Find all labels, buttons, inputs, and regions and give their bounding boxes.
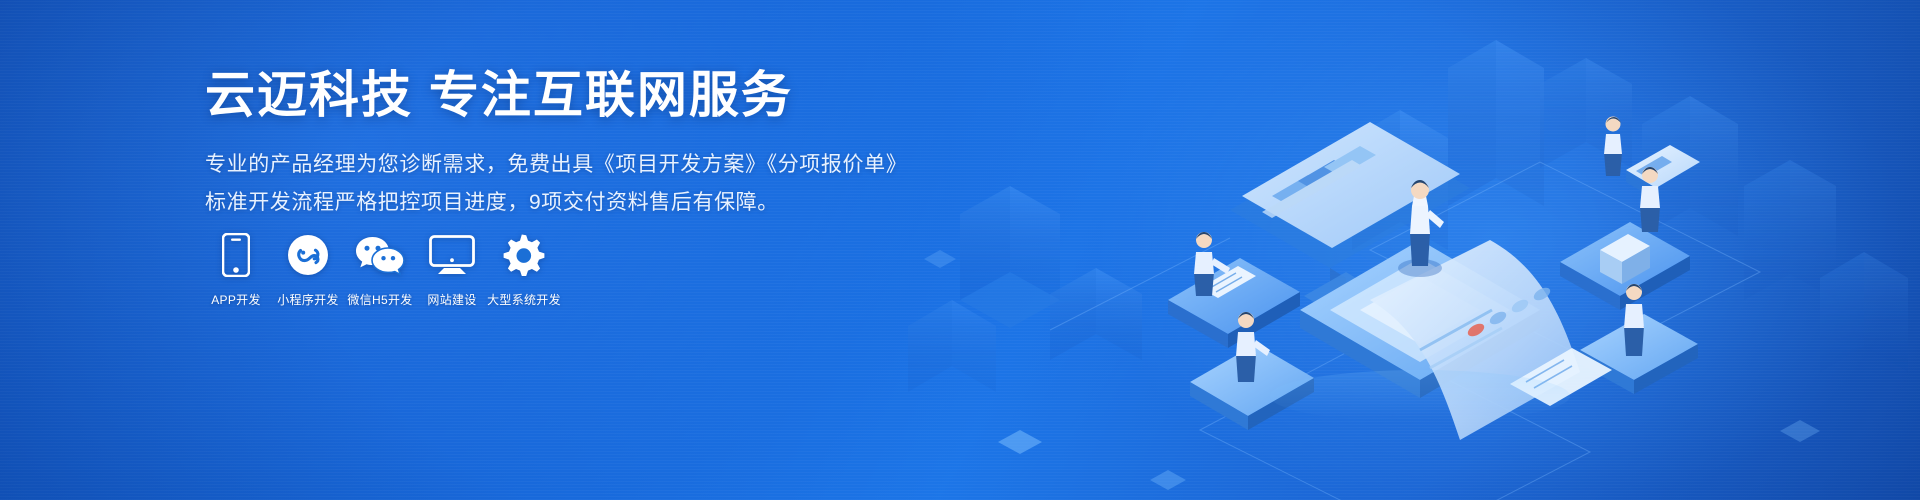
service-label: 小程序开发 [277,291,339,308]
hero-banner: 云迈科技 专注互联网服务 专业的产品经理为您诊断需求，免费出具《项目开发方案》《… [0,0,1920,500]
isometric-tech-illustration [900,0,1920,500]
service-item-miniprogram[interactable]: 小程序开发 [272,232,344,308]
smartphone-icon [222,232,250,278]
banner-content: 云迈科技 专注互联网服务 专业的产品经理为您诊断需求，免费出具《项目开发方案》《… [205,66,965,221]
service-label: APP开发 [211,291,261,308]
service-label: 大型系统开发 [487,291,561,308]
service-icon-list: APP开发 小程序开发 [200,232,560,308]
gear-icon [502,232,546,278]
page-title: 云迈科技 专注互联网服务 [205,66,965,125]
wechat-icon [354,232,406,278]
service-item-wechat-h5[interactable]: 微信H5开发 [344,232,416,308]
miniprogram-icon [287,232,329,278]
banner-subtitle-line-2: 标准开发流程严格把控项目进度，9项交付资料售后有保障。 [205,185,965,221]
service-item-large-system[interactable]: 大型系统开发 [488,232,560,308]
monitor-icon [429,232,475,278]
service-item-app[interactable]: APP开发 [200,232,272,308]
service-label: 微信H5开发 [347,291,412,308]
banner-subtitle-line-1: 专业的产品经理为您诊断需求，免费出具《项目开发方案》《分项报价单》 [205,147,965,183]
service-label: 网站建设 [427,291,476,308]
service-item-website[interactable]: 网站建设 [416,232,488,308]
